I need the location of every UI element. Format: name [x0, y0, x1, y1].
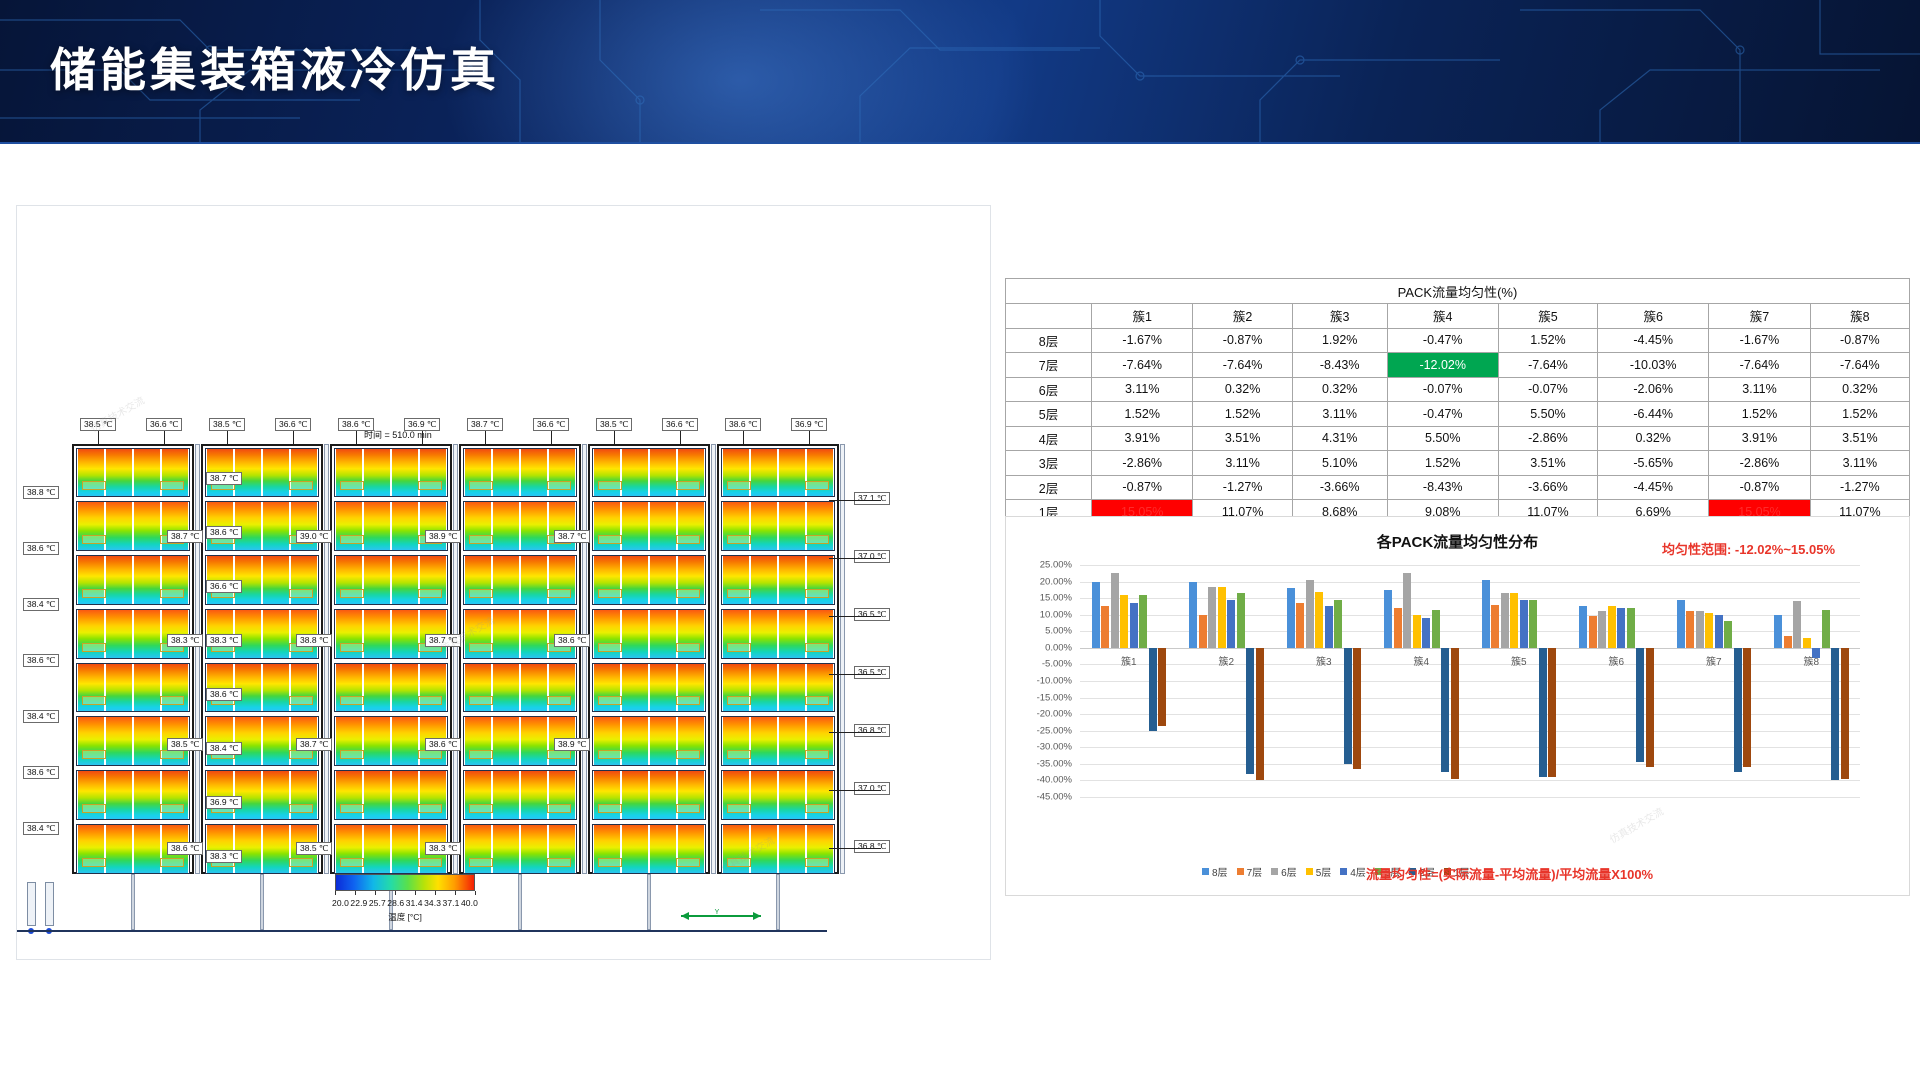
temperature-callout: 36.9 ℃ [404, 418, 440, 431]
legend-swatch [1271, 868, 1278, 875]
chart-bar[interactable] [1548, 648, 1556, 777]
colorbar-tick-label: 22.9 [350, 898, 367, 908]
chart-bar[interactable] [1111, 573, 1119, 648]
chart-bar[interactable] [1774, 615, 1782, 648]
pack-layer[interactable] [592, 501, 706, 551]
callout-leader [743, 431, 744, 444]
pack-layer[interactable] [463, 501, 577, 551]
vertical-manifold [582, 444, 587, 874]
callout-leader [680, 431, 681, 444]
temperature-callout: 38.6 ℃ [23, 766, 59, 779]
table-cell: 0.32% [1292, 377, 1387, 402]
battery-pack-cell [779, 825, 806, 873]
chart-bar[interactable] [1501, 593, 1509, 648]
chart-bar[interactable] [1199, 615, 1207, 648]
chart-bar[interactable] [1589, 616, 1597, 647]
chart-group-簇1 [1080, 565, 1178, 797]
coolant-pipe [727, 750, 751, 759]
chart-bar[interactable] [1822, 610, 1830, 648]
table-cell: 4.31% [1292, 426, 1387, 451]
pack-layer[interactable] [721, 663, 835, 713]
vertical-manifold [840, 444, 845, 874]
temperature-callout: 38.5 ℃ [209, 418, 245, 431]
temperature-callout: 38.5 ℃ [80, 418, 116, 431]
vertical-manifold [453, 444, 458, 874]
pack-layer[interactable] [592, 716, 706, 766]
table-cell: -6.44% [1598, 402, 1709, 427]
coolant-pipe [289, 804, 313, 813]
chart-bar[interactable] [1101, 606, 1109, 647]
chart-bar[interactable] [1130, 603, 1138, 648]
coolant-pipe [160, 750, 184, 759]
battery-pack-cell [263, 449, 290, 497]
table-cell: -0.87% [1709, 475, 1810, 500]
chart-bar[interactable] [1677, 600, 1685, 648]
pack-layer[interactable] [721, 609, 835, 659]
chart-group-簇8 [1763, 565, 1861, 797]
coolant-pipe [676, 481, 700, 490]
battery-pack-cell [364, 610, 391, 658]
pack-layer[interactable] [463, 824, 577, 874]
table-row-header: 5层 [1006, 402, 1092, 427]
coolant-pipe [289, 589, 313, 598]
table-cell: 1.52% [1709, 402, 1810, 427]
temperature-callout: 37.1 ℃ [854, 492, 890, 505]
table-cell: 0.32% [1193, 377, 1292, 402]
temperature-callout: 37.0 ℃ [854, 550, 890, 563]
chart-bar[interactable] [1120, 595, 1128, 648]
chart-bar[interactable] [1394, 608, 1402, 648]
pack-layer[interactable] [76, 555, 190, 605]
chart-bar[interactable] [1422, 618, 1430, 648]
coolant-pipe [805, 481, 829, 490]
legend-item-8层[interactable]: 8层 [1202, 864, 1228, 879]
chart-bar[interactable] [1784, 636, 1792, 648]
chart-bar[interactable] [1344, 648, 1352, 764]
pack-layer[interactable] [721, 770, 835, 820]
table-cell: 3.91% [1709, 426, 1810, 451]
chart-bar[interactable] [1353, 648, 1361, 769]
pack-layer[interactable] [334, 448, 448, 498]
chart-bar[interactable] [1218, 587, 1226, 648]
table-cell: 0.32% [1598, 426, 1709, 451]
table-row-header: 7层 [1006, 353, 1092, 378]
coolant-pipe [340, 535, 364, 544]
chart-x-tick-label: 簇8 [1803, 653, 1819, 668]
table-cell: -12.02% [1387, 353, 1498, 378]
coolant-pipe [547, 750, 571, 759]
chart-bar[interactable] [1579, 606, 1587, 647]
chart-y-tick-label: 15.00% [1040, 593, 1072, 604]
pack-layer[interactable] [463, 663, 577, 713]
chart-bar[interactable] [1441, 648, 1449, 772]
chart-bar[interactable] [1296, 603, 1304, 648]
chart-bar[interactable] [1491, 605, 1499, 648]
pack-layer[interactable] [721, 448, 835, 498]
chart-x-tick-label: 簇1 [1121, 653, 1137, 668]
coolant-pipe [805, 750, 829, 759]
table-cell: -10.03% [1598, 353, 1709, 378]
colorbar-tick-label: 37.1 [443, 898, 460, 908]
pack-layer[interactable] [592, 609, 706, 659]
callout-leader [293, 431, 294, 444]
temperature-callout: 38.3 ℃ [206, 850, 242, 863]
table-cell: -1.27% [1810, 475, 1909, 500]
coolant-pipe [340, 643, 364, 652]
battery-pack-cell [622, 610, 649, 658]
pack-layer[interactable] [76, 663, 190, 713]
temperature-callout: 36.6 ℃ [662, 418, 698, 431]
chart-plot-area[interactable]: 簇1簇2簇3簇4簇5簇6簇7簇8 [1080, 565, 1860, 797]
temperature-callout: 38.6 ℃ [425, 738, 461, 751]
chart-bar[interactable] [1227, 600, 1235, 648]
simulation-panel: 时间 = 510.0 min 38.5 ℃36.6 ℃38.5 ℃36.6 ℃3… [0, 150, 1000, 910]
coolant-pipe [598, 858, 622, 867]
pack-layer[interactable] [721, 555, 835, 605]
pack-layer[interactable] [592, 448, 706, 498]
chart-y-tick-label: 25.00% [1040, 560, 1072, 571]
vertical-manifold [195, 444, 200, 874]
coolant-pipe [727, 804, 751, 813]
battery-pack-cell [622, 771, 649, 819]
battery-pack-cell [263, 717, 290, 765]
coolant-pipe [82, 481, 106, 490]
coolant-pipe [160, 481, 184, 490]
pack-layer[interactable] [334, 501, 448, 551]
chart-bar[interactable] [1686, 611, 1694, 647]
battery-pack-cell [392, 502, 419, 550]
chart-bar[interactable] [1734, 648, 1742, 772]
pack-layer[interactable] [205, 770, 319, 820]
chart-bar[interactable] [1139, 595, 1147, 648]
chart-bar[interactable] [1403, 573, 1411, 648]
temperature-callout: 38.6 ℃ [23, 654, 59, 667]
battery-pack-cell [622, 825, 649, 873]
pack-layer[interactable] [334, 555, 448, 605]
chart-bar[interactable] [1432, 610, 1440, 648]
coolant-pipe [805, 589, 829, 598]
coolant-pipe [598, 804, 622, 813]
table-cell: 0.32% [1810, 377, 1909, 402]
rack-support-post [518, 874, 522, 930]
chart-bar[interactable] [1617, 608, 1625, 648]
chart-bar[interactable] [1315, 592, 1323, 648]
table-row-header: 4层 [1006, 426, 1092, 451]
coolant-pipe [547, 481, 571, 490]
coolant-pipe [160, 858, 184, 867]
rack-support-post [131, 874, 135, 930]
battery-rack[interactable] [717, 444, 839, 874]
temperature-callout: 37.0 ℃ [854, 782, 890, 795]
table-cell: -2.86% [1092, 451, 1193, 476]
coolant-pipe [160, 589, 184, 598]
battery-pack-cell [521, 664, 548, 712]
chart-x-tick-label: 簇7 [1706, 653, 1722, 668]
table-row-header: 3层 [1006, 451, 1092, 476]
table-col-header-簇7: 簇7 [1709, 304, 1810, 329]
pack-layer[interactable] [592, 770, 706, 820]
pack-layer[interactable] [721, 716, 835, 766]
colorbar-tick-label: 25.7 [369, 898, 386, 908]
chart-bar[interactable] [1803, 638, 1811, 648]
chart-bar[interactable] [1831, 648, 1839, 781]
chart-bar[interactable] [1539, 648, 1547, 777]
coolant-pipe [289, 481, 313, 490]
pack-layer[interactable] [592, 663, 706, 713]
callout-leader [829, 732, 881, 733]
pack-layer[interactable] [334, 770, 448, 820]
battery-pack-cell [263, 556, 290, 604]
table-row: 7层-7.64%-7.64%-8.43%-12.02%-7.64%-10.03%… [1006, 353, 1910, 378]
battery-pack-cell [364, 502, 391, 550]
legend-swatch [1237, 868, 1244, 875]
coolant-pipe [418, 750, 442, 759]
battery-pack-cell [779, 556, 806, 604]
temperature-callout: 38.7 ℃ [206, 472, 242, 485]
battery-pack-cell [106, 502, 133, 550]
coolant-pipe [676, 804, 700, 813]
chart-bar[interactable] [1413, 615, 1421, 648]
battery-rack[interactable] [588, 444, 710, 874]
legend-item-4层[interactable]: 4层 [1340, 864, 1366, 879]
chart-group-簇7 [1665, 565, 1763, 797]
table-cell: 1.52% [1092, 402, 1193, 427]
battery-pack-cell [493, 825, 520, 873]
table-col-header-簇3: 簇3 [1292, 304, 1387, 329]
pack-layer[interactable] [76, 501, 190, 551]
table-cell: 3.11% [1709, 377, 1810, 402]
table-body: 8层-1.67%-0.87%1.92%-0.47%1.52%-4.45%-1.6… [1006, 328, 1910, 524]
chart-bar[interactable] [1793, 601, 1801, 647]
battery-pack-cell [364, 717, 391, 765]
coolant-pipe [676, 643, 700, 652]
rack-support-post [647, 874, 651, 930]
callout-leader [809, 431, 810, 444]
pack-layer[interactable] [76, 770, 190, 820]
coolant-pipe [469, 643, 493, 652]
chart-bar[interactable] [1246, 648, 1254, 774]
temperature-callout: 38.4 ℃ [23, 598, 59, 611]
callout-leader [829, 848, 881, 849]
table-title-row: PACK流量均匀性(%) [1006, 279, 1910, 304]
chart-group-簇5 [1470, 565, 1568, 797]
pack-layer[interactable] [76, 448, 190, 498]
chart-group-簇3 [1275, 565, 1373, 797]
table-cell: -3.66% [1498, 475, 1597, 500]
chart-bar[interactable] [1598, 611, 1606, 647]
support-leg-left-2 [45, 882, 54, 926]
temperature-callout: 36.6 ℃ [533, 418, 569, 431]
table-row: 3层-2.86%3.11%5.10%1.52%3.51%-5.65%-2.86%… [1006, 451, 1910, 476]
table-row-header: 6层 [1006, 377, 1092, 402]
coolant-pipe [727, 481, 751, 490]
battery-pack-cell [751, 664, 778, 712]
table-cell: -2.06% [1598, 377, 1709, 402]
chart-y-tick-label: 20.00% [1040, 576, 1072, 587]
coolant-pipe [805, 858, 829, 867]
battery-pack-cell [106, 610, 133, 658]
legend-item-5层[interactable]: 5层 [1306, 864, 1332, 879]
rack-support-post [776, 874, 780, 930]
battery-pack-cell [392, 610, 419, 658]
chart-bar[interactable] [1510, 593, 1518, 648]
battery-pack-cell [751, 771, 778, 819]
battery-pack-cell [235, 825, 262, 873]
temperature-callout: 38.6 ℃ [167, 842, 203, 855]
battery-pack-cell [779, 502, 806, 550]
table-cell: -2.86% [1709, 451, 1810, 476]
table-cell: 3.11% [1092, 377, 1193, 402]
chart-bar[interactable] [1636, 648, 1644, 762]
colorbar-tick-labels: 20.022.925.728.631.434.337.140.0 [332, 898, 478, 908]
battery-rack[interactable] [201, 444, 323, 874]
uniformity-range-annotation: 均匀性范围: -12.02%~15.05% [1662, 539, 1835, 558]
coolant-pipe [805, 643, 829, 652]
battery-pack-cell [650, 664, 677, 712]
legend-item-6层[interactable]: 6层 [1271, 864, 1297, 879]
chart-bar[interactable] [1287, 588, 1295, 648]
battery-pack-cell [263, 825, 290, 873]
table-cell: -5.65% [1598, 451, 1709, 476]
battery-rack[interactable] [72, 444, 194, 874]
table-cell: 5.10% [1292, 451, 1387, 476]
coolant-pipe [418, 589, 442, 598]
chart-y-tick-label: -40.00% [1037, 775, 1072, 786]
battery-pack-cell [493, 771, 520, 819]
chart-bar[interactable] [1158, 648, 1166, 726]
chart-bar[interactable] [1208, 587, 1216, 648]
pack-layer[interactable] [592, 824, 706, 874]
coolant-pipe [676, 750, 700, 759]
table-cell: 1.52% [1193, 402, 1292, 427]
battery-pack-cell [493, 556, 520, 604]
legend-swatch [1340, 868, 1347, 875]
battery-pack-cell [521, 717, 548, 765]
coolant-pipe [469, 535, 493, 544]
table-cell: -0.47% [1387, 402, 1498, 427]
chart-bar[interactable] [1646, 648, 1654, 767]
table-cell: 3.51% [1498, 451, 1597, 476]
table-cell: 1.92% [1292, 328, 1387, 353]
battery-pack-cell [751, 610, 778, 658]
battery-pack-cell [134, 664, 161, 712]
chart-bar[interactable] [1715, 615, 1723, 648]
coolant-pipe [598, 481, 622, 490]
coolant-pipe [727, 643, 751, 652]
chart-bar[interactable] [1724, 621, 1732, 648]
callout-leader [551, 431, 552, 444]
coolant-pipe [82, 804, 106, 813]
chart-bar[interactable] [1149, 648, 1157, 731]
coolant-pipe [289, 858, 313, 867]
chart-bar[interactable] [1189, 582, 1197, 648]
battery-pack-cell [751, 717, 778, 765]
chart-bar[interactable] [1306, 580, 1314, 648]
table-col-header-簇8: 簇8 [1810, 304, 1909, 329]
chart-bar[interactable] [1451, 648, 1459, 779]
pack-layer[interactable] [463, 555, 577, 605]
chart-bar[interactable] [1696, 611, 1704, 647]
battery-pack-cell [134, 556, 161, 604]
table-cell: -1.27% [1193, 475, 1292, 500]
temperature-callout: 36.6 ℃ [206, 580, 242, 593]
colorbar-tick [395, 891, 396, 895]
pack-layer[interactable] [463, 448, 577, 498]
chart-bar[interactable] [1334, 600, 1342, 648]
coolant-pipe [340, 804, 364, 813]
temperature-callout: 36.6 ℃ [275, 418, 311, 431]
chart-bar[interactable] [1608, 606, 1616, 647]
table-cell: 1.52% [1810, 402, 1909, 427]
colorbar-tick-label: 31.4 [406, 898, 423, 908]
table-corner-cell [1006, 304, 1092, 329]
chart-y-tick-label: -20.00% [1037, 709, 1072, 720]
table-cell: 3.91% [1092, 426, 1193, 451]
table-cell: -7.64% [1810, 353, 1909, 378]
pack-layer[interactable] [463, 770, 577, 820]
coolant-pipe [676, 696, 700, 705]
pack-layer[interactable] [334, 663, 448, 713]
coolant-pipe [598, 643, 622, 652]
chart-bar[interactable] [1520, 600, 1528, 648]
legend-item-7层[interactable]: 7层 [1237, 864, 1263, 879]
chart-bar[interactable] [1841, 648, 1849, 779]
colorbar-tick [475, 891, 476, 895]
chart-bar[interactable] [1325, 606, 1333, 647]
pack-layer[interactable] [721, 824, 835, 874]
temperature-callout: 36.9 ℃ [791, 418, 827, 431]
watermark: 仿真技术交流 [1606, 803, 1665, 846]
battery-pack-cell [650, 610, 677, 658]
chart-bar[interactable] [1627, 608, 1635, 648]
battery-rack[interactable] [330, 444, 452, 874]
coolant-pipe [469, 858, 493, 867]
coolant-pipe [727, 535, 751, 544]
coolant-pipe [160, 804, 184, 813]
battery-pack-cell [392, 825, 419, 873]
battery-pack-cell [493, 502, 520, 550]
coolant-pipe [469, 696, 493, 705]
table-title: PACK流量均匀性(%) [1006, 279, 1910, 304]
temperature-callout: 36.5 ℃ [854, 608, 890, 621]
table-cell: -8.43% [1387, 475, 1498, 500]
coolant-pipe [340, 589, 364, 598]
chart-bar[interactable] [1092, 582, 1100, 648]
colorbar-title: 温度 [°C] [335, 911, 475, 923]
pack-layer[interactable] [721, 501, 835, 551]
battery-pack-cell [493, 610, 520, 658]
chart-bar[interactable] [1529, 600, 1537, 648]
coolant-pipe [418, 696, 442, 705]
coolant-pipe [418, 858, 442, 867]
coolant-pipe [547, 696, 571, 705]
coolant-pipe [82, 696, 106, 705]
chart-group-簇4 [1373, 565, 1471, 797]
table-row: 8层-1.67%-0.87%1.92%-0.47%1.52%-4.45%-1.6… [1006, 328, 1910, 353]
colorbar-tick [455, 891, 456, 895]
battery-rack[interactable] [459, 444, 581, 874]
chart-bar[interactable] [1705, 613, 1713, 648]
chart-bar[interactable] [1384, 590, 1392, 648]
colorbar-tick [415, 891, 416, 895]
battery-pack-cell [134, 825, 161, 873]
coolant-pipe [547, 589, 571, 598]
chart-bar[interactable] [1256, 648, 1264, 781]
chart-bar[interactable] [1482, 580, 1490, 648]
chart-bar[interactable] [1237, 593, 1245, 648]
pack-layer[interactable] [592, 555, 706, 605]
chart-bar[interactable] [1743, 648, 1751, 767]
